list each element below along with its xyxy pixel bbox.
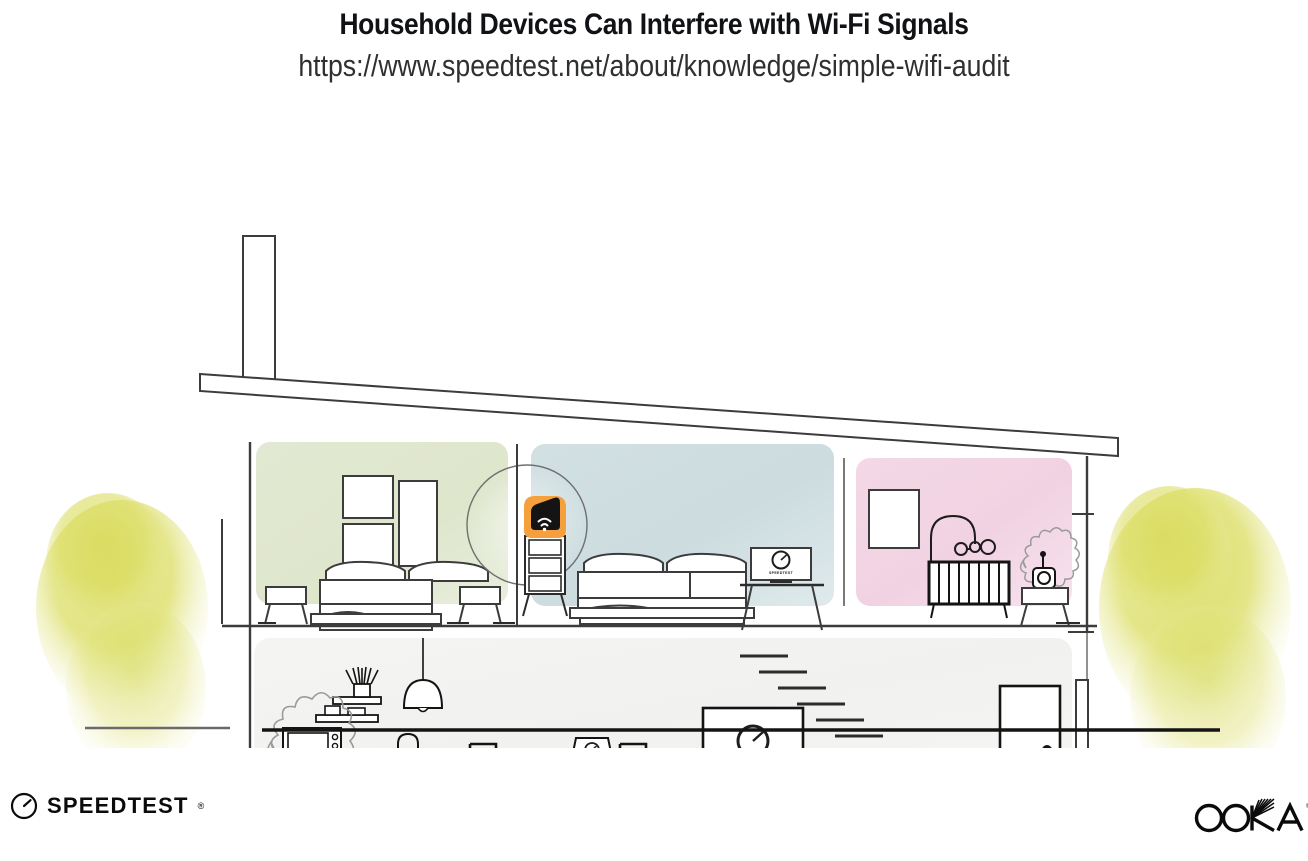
speedtest-registered-mark: ®	[198, 801, 205, 811]
ookla-logo[interactable]: ®	[1190, 796, 1308, 841]
footer: SPEEDTEST ® ®	[0, 790, 1308, 850]
television[interactable]: SPEEDTEST	[703, 708, 803, 748]
foliage-left	[36, 493, 208, 748]
wall-art-frame-nursery	[869, 490, 919, 548]
room-nursery-right	[856, 458, 1079, 626]
living-room-tv-area: SPEEDTEST	[690, 708, 812, 748]
ookla-fan-icon: ®	[1190, 796, 1308, 836]
source-url: https://www.speedtest.net/about/knowledg…	[92, 48, 1217, 84]
foliage-right	[1099, 486, 1291, 748]
nightstand-right	[459, 587, 501, 624]
bed-center	[570, 554, 754, 624]
wifi-router[interactable]	[524, 496, 566, 538]
side-table-nursery	[1021, 588, 1069, 626]
monitor-speedtest-label: SPEEDTEST	[769, 571, 794, 575]
speedtest-wordmark: SPEEDTEST	[47, 793, 189, 819]
crib	[929, 562, 1009, 618]
chimney	[243, 236, 275, 386]
narrow-window-right	[1076, 680, 1088, 748]
house-illustration: SPEEDTEST	[0, 108, 1308, 748]
room-bedroom-center: SPEEDTEST	[467, 444, 834, 630]
page-title: Household Devices Can Interfere with Wi-…	[78, 8, 1229, 42]
header: Household Devices Can Interfere with Wi-…	[0, 0, 1308, 84]
front-door[interactable]	[1000, 686, 1060, 748]
speedtest-logo[interactable]: SPEEDTEST ®	[10, 792, 204, 820]
nightstand-left	[265, 587, 307, 624]
speedometer-icon	[10, 792, 38, 820]
infographic-canvas: Household Devices Can Interfere with Wi-…	[0, 0, 1308, 861]
